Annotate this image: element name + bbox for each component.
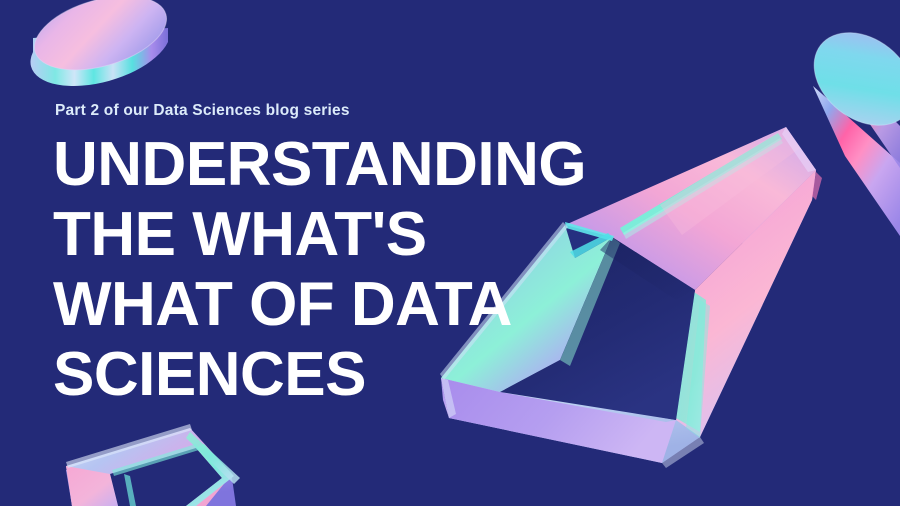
headline-line-4: SCIENCES <box>53 340 693 410</box>
hero-text: Part 2 of our Data Sciences blog series … <box>0 0 900 506</box>
headline-line-2: THE WHAT'S <box>53 200 693 270</box>
headline-line-1: UNDERSTANDING <box>53 130 693 200</box>
page-title: UNDERSTANDING THE WHAT'S WHAT OF DATA SC… <box>53 130 693 410</box>
hero-banner: Part 2 of our Data Sciences blog series … <box>0 0 900 506</box>
eyebrow-text: Part 2 of our Data Sciences blog series <box>55 102 350 120</box>
headline-line-3: WHAT OF DATA <box>53 270 693 340</box>
